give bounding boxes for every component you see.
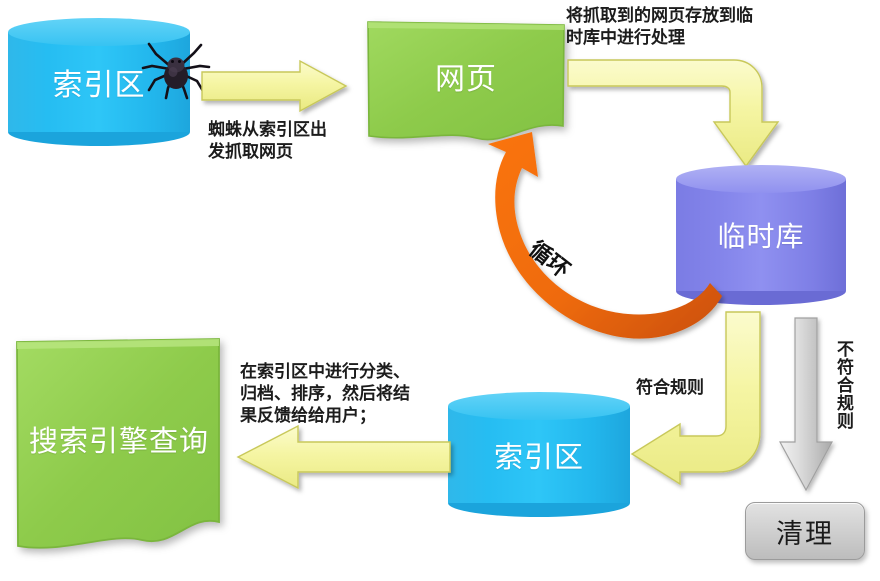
node-search-query[interactable]: 搜索引擎查询 <box>14 336 224 558</box>
edge-no-match-rule-label: 不符合规则 <box>834 340 851 430</box>
node-cleanup-label: 清理 <box>776 512 834 551</box>
edge-feedback-to-user-label: 在索引区中进行分类、 归档、排序，然后将结 果反馈给给用户； <box>240 362 446 427</box>
node-temp-store-label: 临时库 <box>676 215 846 255</box>
edge-feedback-to-user-arrow <box>236 424 452 490</box>
node-web-page-label: 网页 <box>366 54 566 98</box>
diagram-canvas: 索引区 <box>0 0 880 581</box>
node-search-query-label: 搜索引擎查询 <box>14 418 224 460</box>
node-cleanup[interactable]: 清理 <box>745 502 865 560</box>
cylinder-top <box>448 392 630 420</box>
node-index-area-bottom-label: 索引区 <box>448 434 630 476</box>
edge-no-match-rule-arrow <box>778 316 834 494</box>
node-index-area-bottom[interactable]: 索引区 <box>448 392 630 517</box>
edge-match-rule-label: 符合规则 <box>636 378 746 400</box>
edge-store-to-temp-label: 将抓取到的网页存放到临 时库中进行处理 <box>566 6 796 50</box>
node-web-page[interactable]: 网页 <box>366 20 566 142</box>
edge-spider-fetch-arrow <box>200 60 348 112</box>
edge-spider-fetch-label: 蜘蛛从索引区出 发抓取网页 <box>208 120 358 164</box>
node-index-area-top-label: 索引区 <box>8 60 190 104</box>
